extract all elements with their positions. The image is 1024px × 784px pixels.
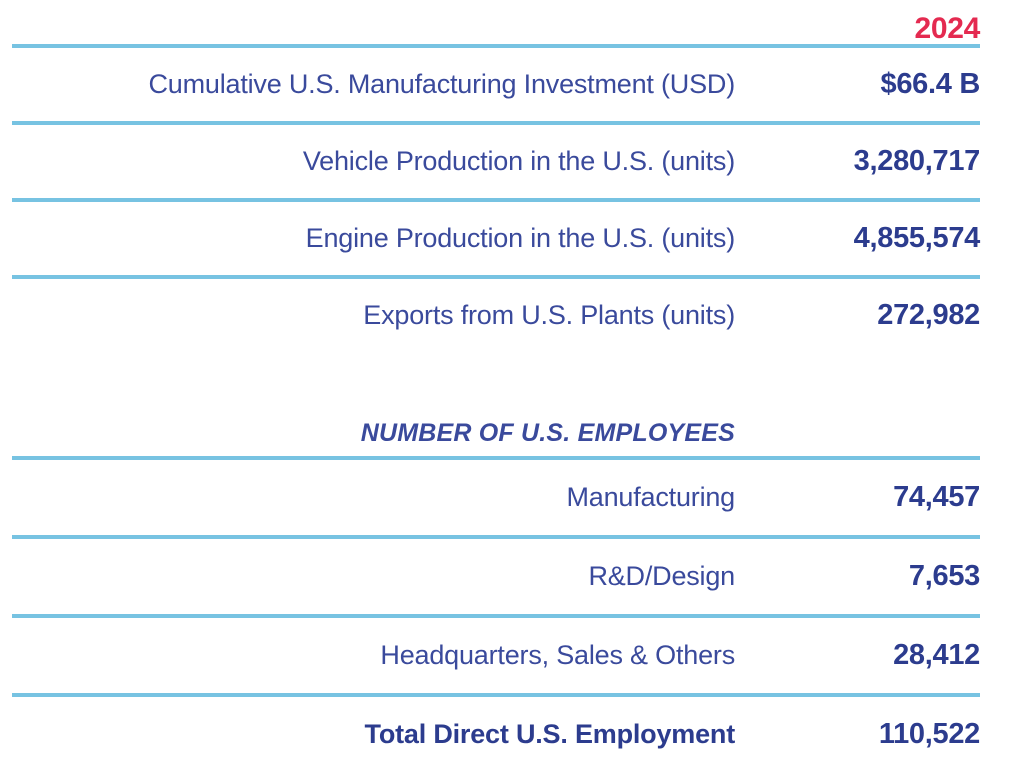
row-value: $66.4 B bbox=[735, 68, 980, 101]
table-row: Manufacturing74,457 bbox=[12, 460, 980, 535]
table-row: R&D/Design7,653 bbox=[12, 539, 980, 614]
row-label: Engine Production in the U.S. (units) bbox=[306, 223, 735, 254]
table-row: Cumulative U.S. Manufacturing Investment… bbox=[12, 48, 980, 121]
row-value: 28,412 bbox=[735, 639, 980, 672]
table-row: Engine Production in the U.S. (units)4,8… bbox=[12, 202, 980, 275]
employees-section: Manufacturing74,457R&D/Design7,653Headqu… bbox=[12, 460, 980, 776]
row-label: Total Direct U.S. Employment bbox=[365, 719, 735, 750]
row-label: Vehicle Production in the U.S. (units) bbox=[303, 146, 735, 177]
row-value: 7,653 bbox=[735, 560, 980, 593]
row-label: Exports from U.S. Plants (units) bbox=[363, 300, 735, 331]
row-value: 4,855,574 bbox=[735, 222, 980, 255]
row-label: Headquarters, Sales & Others bbox=[380, 640, 735, 671]
divider-spacer bbox=[12, 772, 980, 776]
employees-section-title: NUMBER OF U.S. EMPLOYEES bbox=[361, 419, 735, 448]
row-value: 272,982 bbox=[735, 299, 980, 332]
year-header: 2024 bbox=[735, 14, 980, 44]
row-label: Cumulative U.S. Manufacturing Investment… bbox=[148, 69, 735, 100]
row-label: Manufacturing bbox=[567, 482, 736, 513]
row-value: 3,280,717 bbox=[735, 145, 980, 178]
row-value: 74,457 bbox=[735, 481, 980, 514]
table-row: Exports from U.S. Plants (units)272,982 bbox=[12, 279, 980, 352]
table-row: Headquarters, Sales & Others28,412 bbox=[12, 618, 980, 693]
row-label: R&D/Design bbox=[588, 561, 735, 592]
table-row: Total Direct U.S. Employment110,522 bbox=[12, 697, 980, 772]
metrics-section: Cumulative U.S. Manufacturing Investment… bbox=[12, 48, 980, 356]
table-header-row: 2024 bbox=[12, 0, 980, 44]
stats-table: 2024 Cumulative U.S. Manufacturing Inves… bbox=[0, 0, 1024, 784]
row-value: 110,522 bbox=[735, 718, 980, 751]
employees-section-header-row: NUMBER OF U.S. EMPLOYEES bbox=[12, 356, 980, 456]
table-row: Vehicle Production in the U.S. (units)3,… bbox=[12, 125, 980, 198]
